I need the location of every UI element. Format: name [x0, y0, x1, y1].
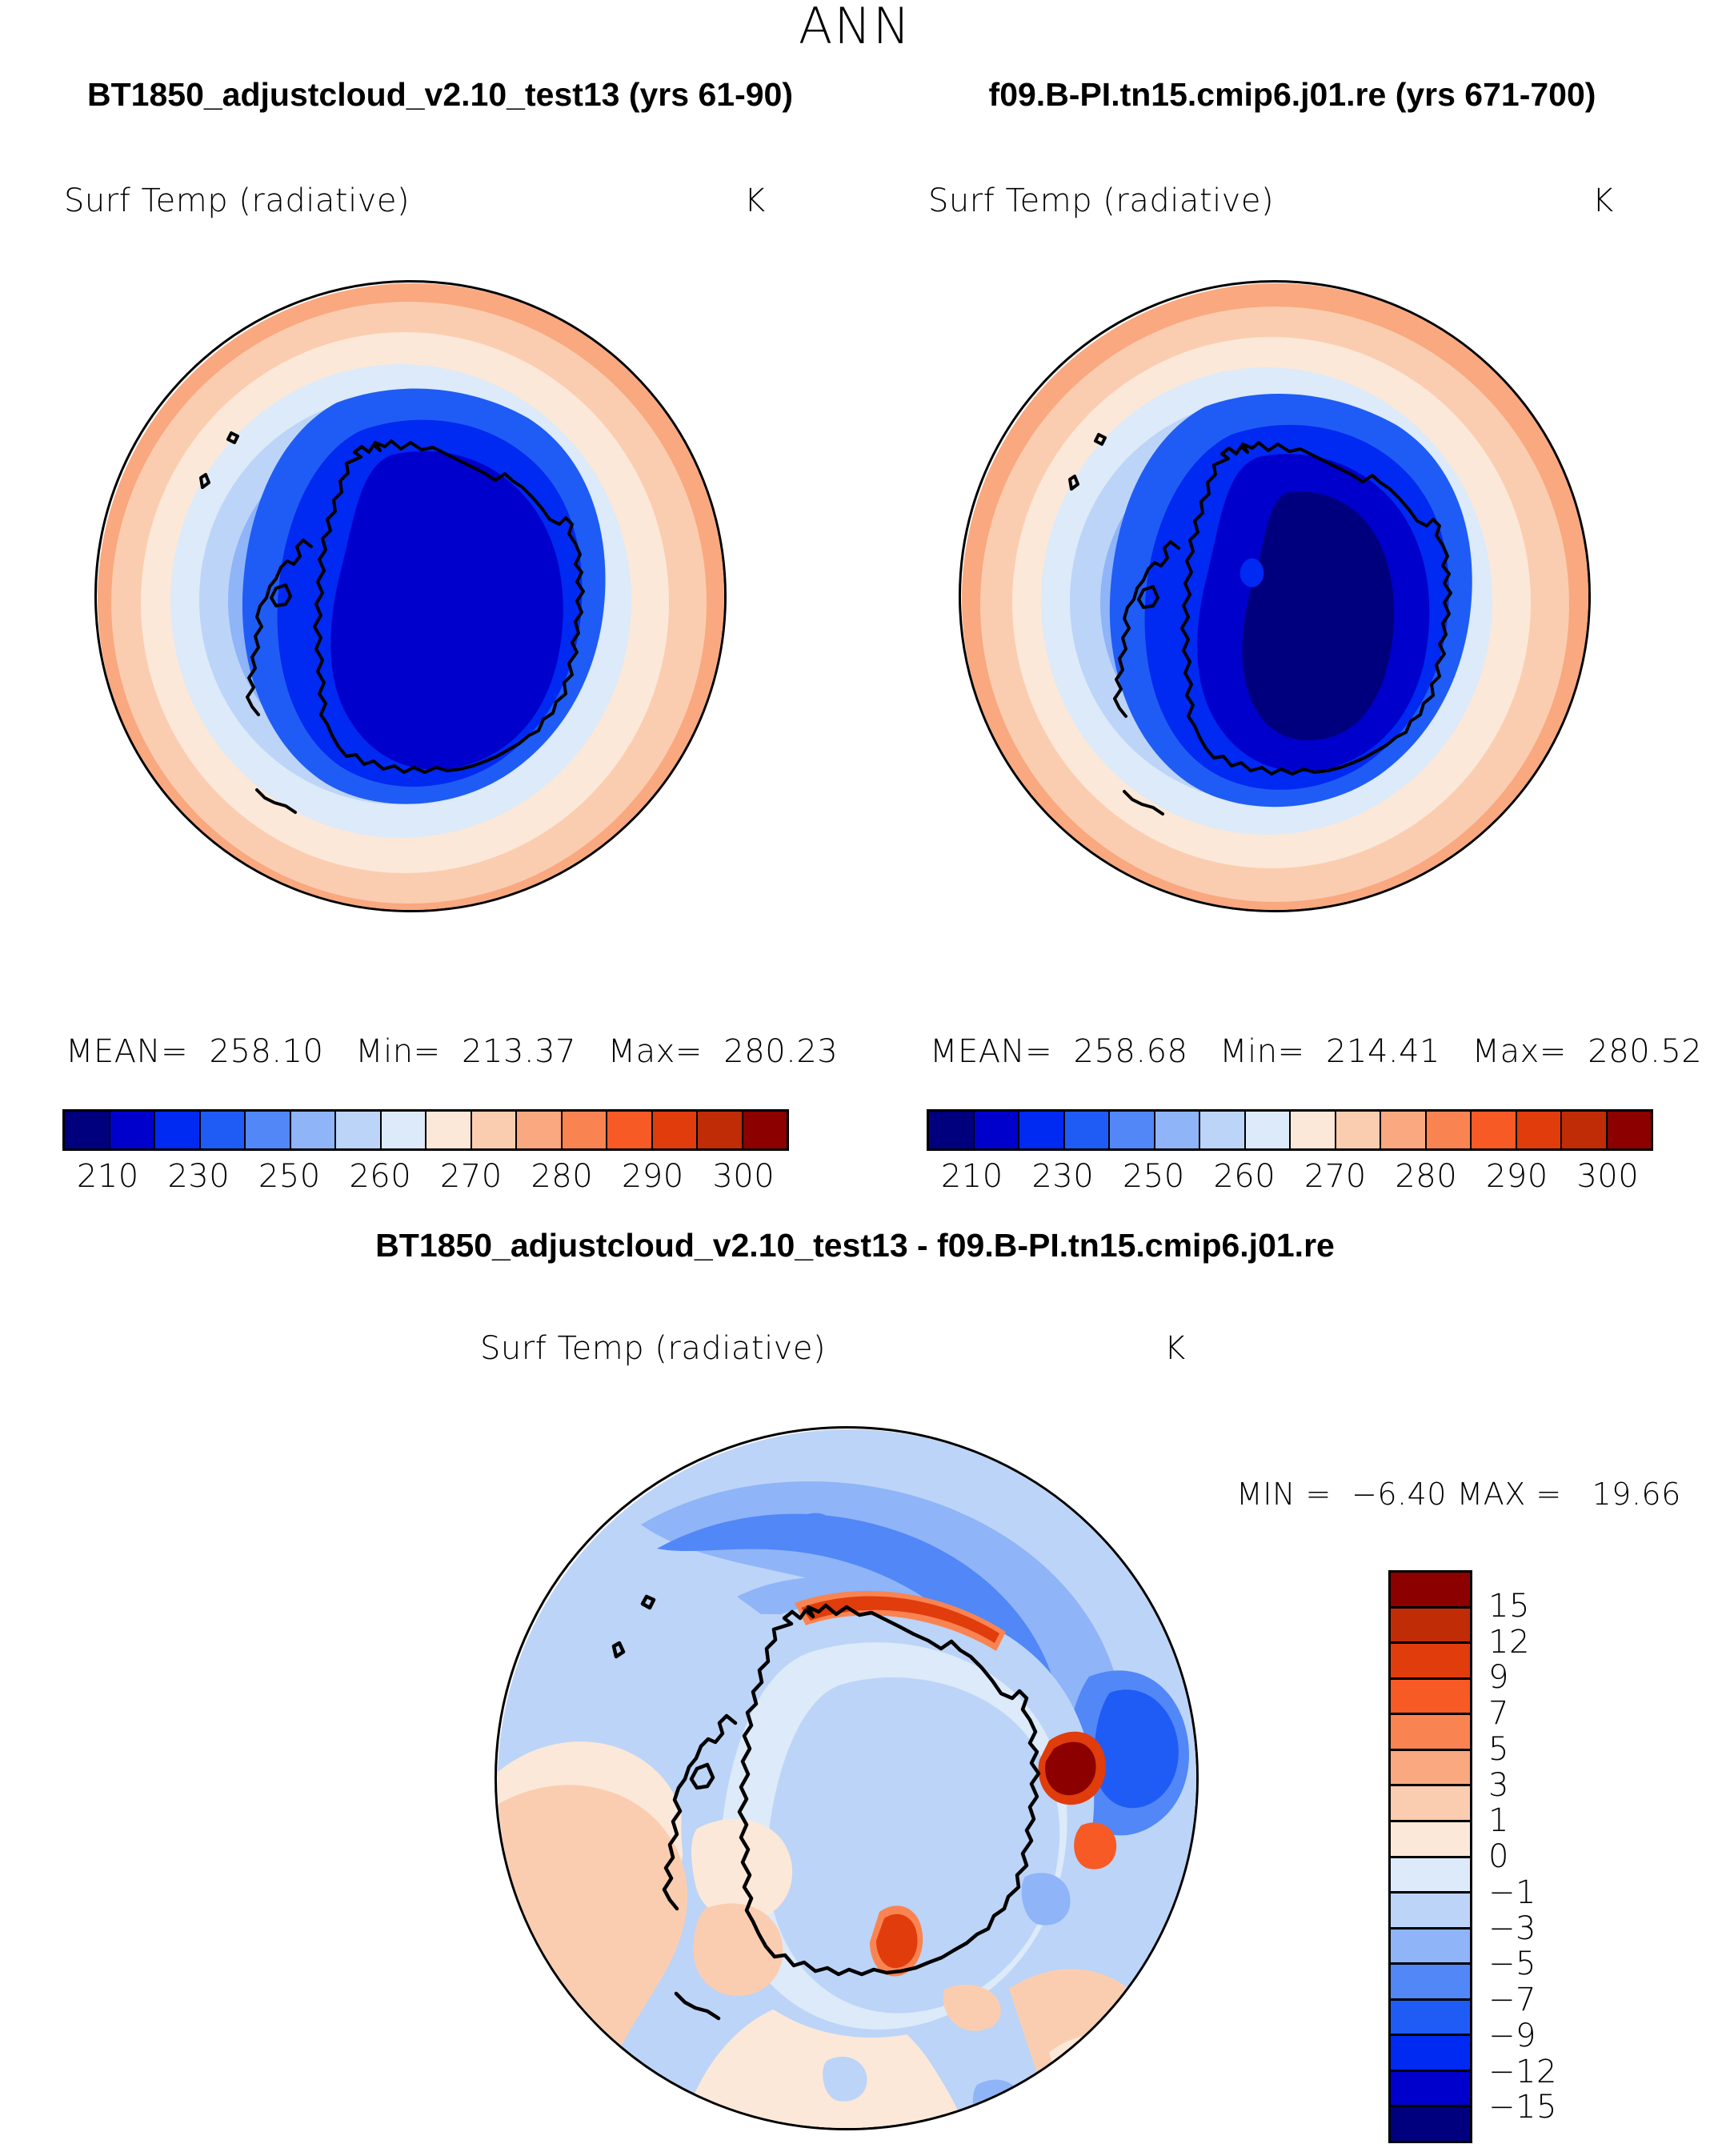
colorbar-cell — [110, 1112, 156, 1148]
colorbar-cell — [1427, 1112, 1472, 1148]
colorbar-tick-label: −1 — [1488, 1874, 1536, 1911]
colorbar-cell — [1110, 1112, 1155, 1148]
left-variable-label: Surf Temp (radiative) — [64, 182, 410, 219]
left-colorbar[interactable] — [62, 1109, 789, 1151]
colorbar-cell — [1391, 1644, 1470, 1680]
colorbar-cell — [1381, 1112, 1427, 1148]
diff-stats-text: MIN = −6.40 MAX = 19.66 — [1236, 1477, 1681, 1512]
colorbar-cell — [1246, 1112, 1292, 1148]
colorbar-tick-label: 210 — [77, 1158, 139, 1195]
colorbar-cell — [1472, 1112, 1517, 1148]
colorbar-cell — [1391, 2001, 1470, 2037]
colorbar-cell — [975, 1112, 1020, 1148]
colorbar-cell — [1291, 1112, 1336, 1148]
colorbar-cell — [1391, 1680, 1470, 1716]
colorbar-cell — [336, 1112, 382, 1148]
colorbar-tick-label: 1 — [1488, 1802, 1509, 1839]
colorbar-cell — [929, 1112, 975, 1148]
colorbar-cell — [563, 1112, 608, 1148]
colorbar-tick-label: −5 — [1488, 1946, 1536, 1982]
colorbar-tick-label: 5 — [1488, 1731, 1509, 1768]
difference-colorbar-labels: 1512975310−1−3−5−7−9−12−15 — [1488, 1570, 1696, 2143]
colorbar-cell — [1391, 1573, 1470, 1609]
colorbar-tick-label: 0 — [1488, 1838, 1509, 1875]
colorbar-cell — [291, 1112, 337, 1148]
right-panel-title: f09.B-PI.tn15.cmip6.j01.re (yrs 671-700) — [888, 76, 1696, 114]
colorbar-cell — [472, 1112, 518, 1148]
colorbar-tick-label: 230 — [167, 1158, 230, 1195]
left-stats-text: MEAN= 258.10 Min= 213.37 Max= 280.23 — [66, 1033, 838, 1070]
season-title: ANN — [0, 0, 1710, 55]
right-antarctic-map[interactable] — [959, 280, 1591, 912]
diff-map-contours — [497, 1429, 1196, 2128]
left-antarctic-map[interactable] — [94, 280, 727, 912]
colorbar-tick-label: 250 — [1123, 1158, 1185, 1195]
colorbar-cell — [1155, 1112, 1201, 1148]
right-colorbar[interactable] — [927, 1109, 1653, 1151]
colorbar-tick-label: 270 — [1304, 1158, 1367, 1195]
right-colorbar-labels: 210230250260270280290300 — [927, 1158, 1648, 1195]
colorbar-cell — [1391, 2036, 1470, 2072]
colorbar-tick-label: −12 — [1488, 2054, 1557, 2090]
colorbar-cell — [1391, 1822, 1470, 1858]
colorbar-tick-label: 9 — [1488, 1659, 1509, 1696]
colorbar-cell — [517, 1112, 563, 1148]
colorbar-cell — [1200, 1112, 1246, 1148]
colorbar-cell — [1391, 1858, 1470, 1894]
colorbar-tick-label: 280 — [531, 1158, 593, 1195]
colorbar-tick-label: 300 — [712, 1158, 775, 1195]
left-map-contours — [97, 283, 724, 910]
colorbar-cell — [1391, 2072, 1470, 2108]
colorbar-tick-label: 300 — [1576, 1158, 1639, 1195]
colorbar-cell — [1391, 1965, 1470, 2001]
colorbar-cell — [653, 1112, 699, 1148]
colorbar-cell — [1391, 2107, 1470, 2141]
colorbar-tick-label: 260 — [349, 1158, 411, 1195]
colorbar-cell — [743, 1112, 787, 1148]
colorbar-cell — [698, 1112, 743, 1148]
difference-panel-title: BT1850_adjustcloud_v2.10_test13 - f09.B-… — [0, 1227, 1710, 1264]
colorbar-tick-label: 260 — [1213, 1158, 1275, 1195]
colorbar-tick-label: 250 — [258, 1158, 321, 1195]
colorbar-cell — [65, 1112, 110, 1148]
colorbar-tick-label: 7 — [1488, 1695, 1509, 1732]
colorbar-tick-label: −9 — [1488, 2018, 1536, 2054]
colorbar-cell — [1391, 1751, 1470, 1787]
colorbar-cell — [1019, 1112, 1065, 1148]
colorbar-cell — [382, 1112, 427, 1148]
colorbar-tick-label: 270 — [440, 1158, 503, 1195]
right-variable-label: Surf Temp (radiative) — [928, 182, 1274, 219]
colorbar-tick-label: −3 — [1488, 1910, 1536, 1947]
colorbar-cell — [1517, 1112, 1563, 1148]
colorbar-cell — [246, 1112, 291, 1148]
colorbar-cell — [1562, 1112, 1608, 1148]
right-unit-label: K — [1592, 182, 1614, 219]
difference-colorbar[interactable] — [1388, 1570, 1472, 2143]
colorbar-cell — [201, 1112, 246, 1148]
left-unit-label: K — [744, 182, 766, 219]
right-map-contours — [961, 283, 1588, 910]
colorbar-tick-label: 3 — [1488, 1767, 1509, 1804]
colorbar-tick-label: −15 — [1488, 2089, 1557, 2126]
colorbar-cell — [1065, 1112, 1111, 1148]
diff-variable-label: Surf Temp (radiative) — [480, 1330, 826, 1367]
diff-unit-label: K — [1164, 1330, 1186, 1367]
colorbar-tick-label: 15 — [1488, 1588, 1530, 1625]
colorbar-cell — [1391, 1609, 1470, 1645]
colorbar-tick-label: 210 — [941, 1158, 1003, 1195]
colorbar-cell — [155, 1112, 201, 1148]
colorbar-cell — [1336, 1112, 1382, 1148]
colorbar-tick-label: 230 — [1031, 1158, 1094, 1195]
right-stats-text: MEAN= 258.68 Min= 214.41 Max= 280.52 — [930, 1033, 1702, 1070]
colorbar-cell — [426, 1112, 472, 1148]
colorbar-tick-label: 290 — [622, 1158, 684, 1195]
difference-antarctic-map[interactable] — [495, 1426, 1199, 2130]
colorbar-cell — [607, 1112, 653, 1148]
colorbar-tick-label: 290 — [1486, 1158, 1548, 1195]
left-colorbar-labels: 210230250260270280290300 — [62, 1158, 784, 1195]
colorbar-tick-label: −7 — [1488, 1982, 1536, 2018]
left-panel-title: BT1850_adjustcloud_v2.10_test13 (yrs 61-… — [8, 76, 872, 114]
colorbar-cell — [1391, 1786, 1470, 1822]
colorbar-cell — [1391, 1715, 1470, 1751]
colorbar-tick-label: 280 — [1395, 1158, 1457, 1195]
colorbar-cell — [1391, 1930, 1470, 1966]
colorbar-cell — [1391, 1894, 1470, 1930]
colorbar-tick-label: 12 — [1488, 1624, 1530, 1661]
colorbar-cell — [1608, 1112, 1652, 1148]
